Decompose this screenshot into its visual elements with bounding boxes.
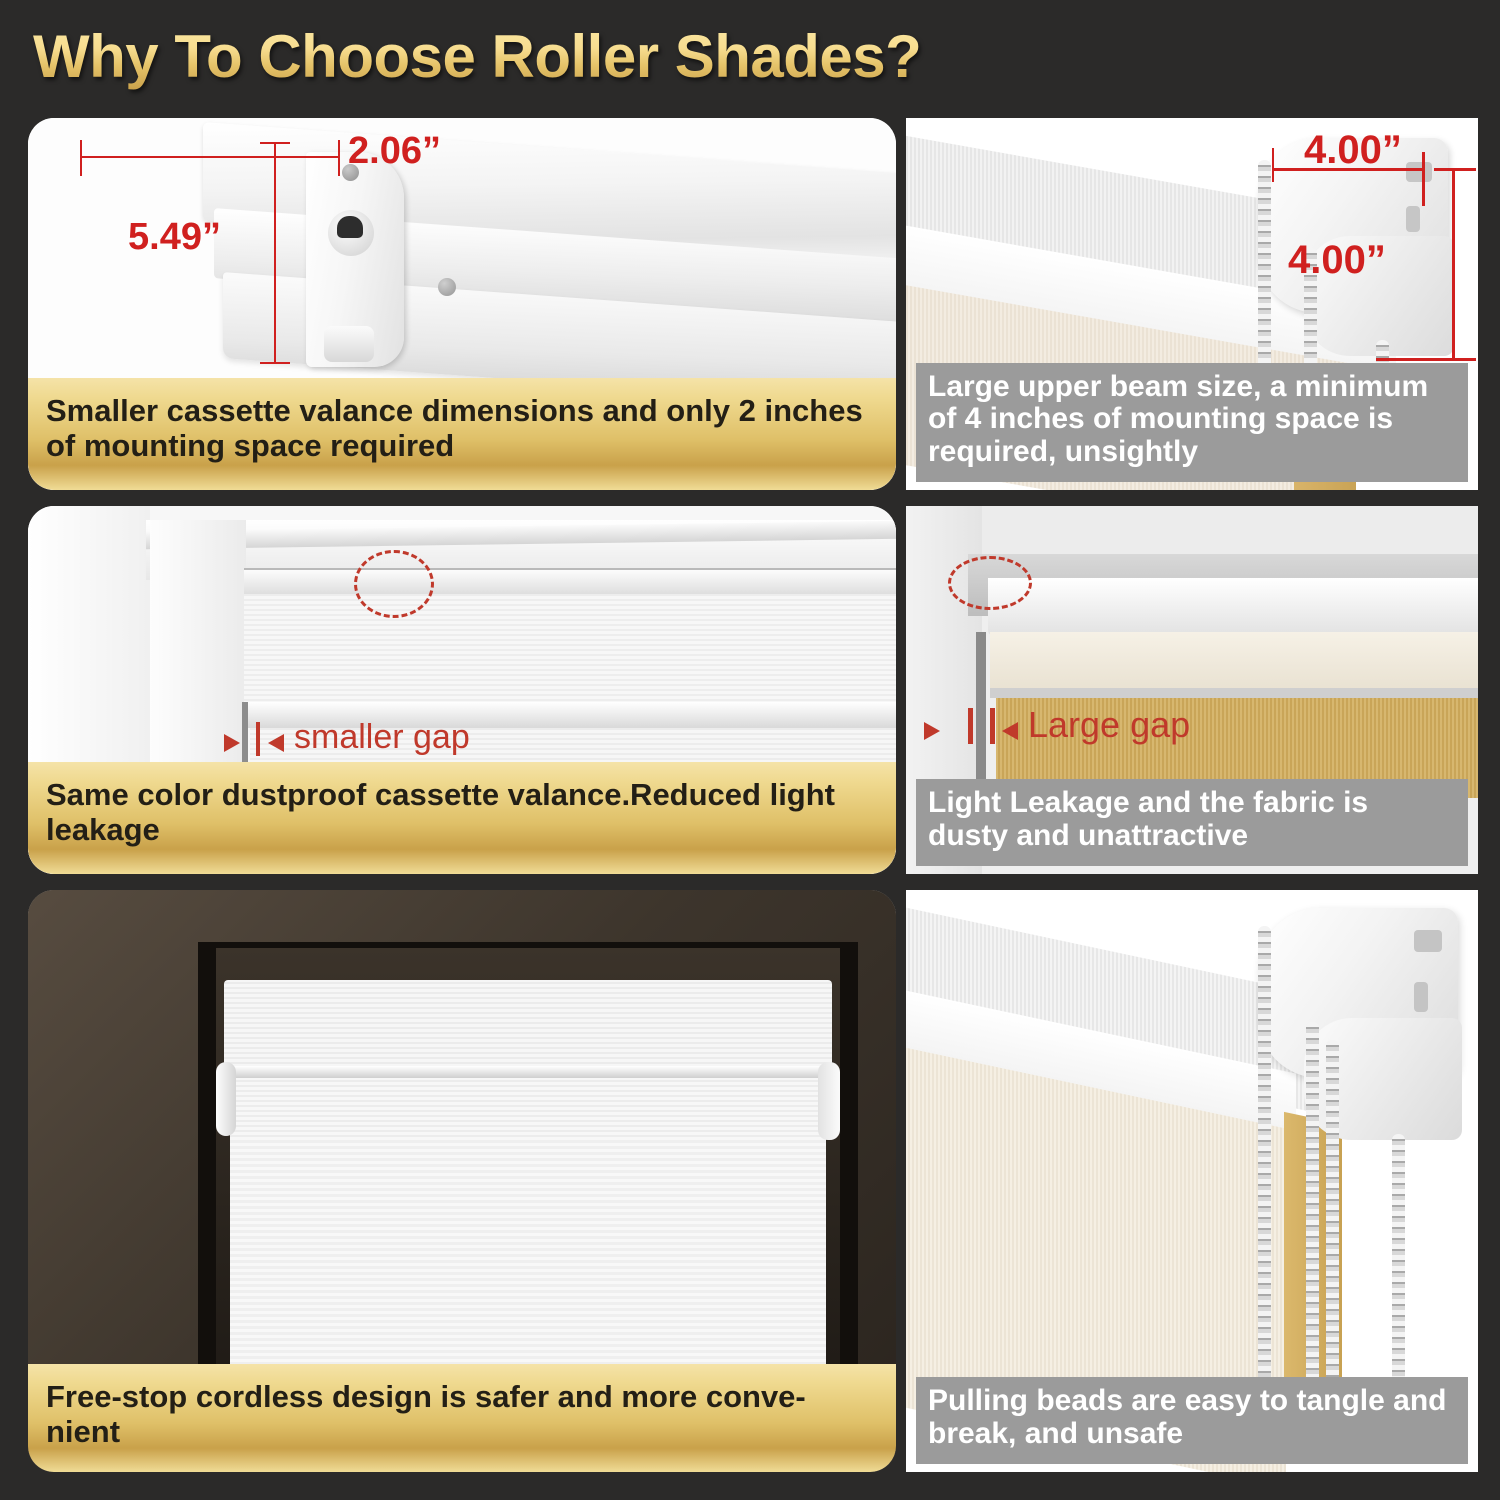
panel-top-right: 4.00” 4.00” Large upper beam size, a min…: [906, 118, 1478, 490]
dimension-label-beam-height: 4.00”: [1288, 238, 1386, 283]
gap-arrow-right-icon: [224, 734, 240, 752]
dim-vline-height: [274, 142, 276, 364]
gap-arrow-left-icon: [1002, 722, 1018, 740]
caption-middle-left: Same color dustproof cassette valance.Re…: [28, 762, 896, 874]
dim-vline-w1: [1272, 148, 1274, 182]
bead-chain-1: [1258, 926, 1271, 1406]
panel-middle-right: Large gap Light Leakage and the fabric i…: [906, 506, 1478, 874]
bead-chain-3: [1326, 1040, 1339, 1412]
dim-vline-w2: [1422, 152, 1425, 206]
panel-top-left: 2.06” 5.49” Smaller cassette valance dim…: [28, 118, 896, 490]
gap-label-smaller: smaller gap: [294, 718, 470, 757]
caption-top-left: Smaller cassette valance dimensions and …: [28, 378, 896, 490]
bead-chain-2: [1306, 1022, 1319, 1412]
dim-tick-top: [260, 142, 290, 144]
highlight-circle-icon: [354, 550, 434, 618]
caption-middle-right: Light Leakage and the fabric is dusty an…: [916, 779, 1468, 866]
caption-top-right: Large upper beam size, a minimum of 4 in…: [916, 363, 1468, 482]
panel-bottom-left: Free-stop cordless design is safer and m…: [28, 890, 896, 1472]
dimension-label-height: 5.49”: [128, 216, 221, 259]
dim-hline-width: [80, 156, 340, 158]
highlight-circle-icon: [948, 556, 1032, 610]
page-title: Why To Choose Roller Shades?: [33, 22, 921, 91]
gap-arrow-left-icon: [268, 734, 284, 752]
bead-chain-4: [1392, 1134, 1405, 1412]
dim-vline-h: [1452, 168, 1455, 360]
panel-middle-left: smaller gap Same color dustproof cassett…: [28, 506, 896, 874]
caption-bottom-left: Free-stop cordless design is safer and m…: [28, 1364, 896, 1472]
dim-tick-bottom: [260, 362, 290, 364]
dim-vline-top: [80, 140, 82, 176]
gap-arrow-right-icon: [924, 722, 940, 740]
panel-bottom-right: Pulling beads are easy to tangle and bre…: [906, 890, 1478, 1472]
gap-label-large: Large gap: [1028, 704, 1190, 746]
dimension-label-beam-width: 4.00”: [1304, 128, 1402, 173]
gap-tick-2: [990, 708, 995, 744]
dim-vline-top2: [338, 140, 340, 176]
caption-bottom-right: Pulling beads are easy to tangle and bre…: [916, 1377, 1468, 1464]
gap-tick-1: [968, 708, 973, 744]
dimension-label-width: 2.06”: [348, 130, 441, 173]
dim-tick-h-top: [1434, 168, 1476, 171]
dim-tick-h-bottom: [1376, 358, 1476, 361]
gap-tick-1: [256, 722, 260, 756]
